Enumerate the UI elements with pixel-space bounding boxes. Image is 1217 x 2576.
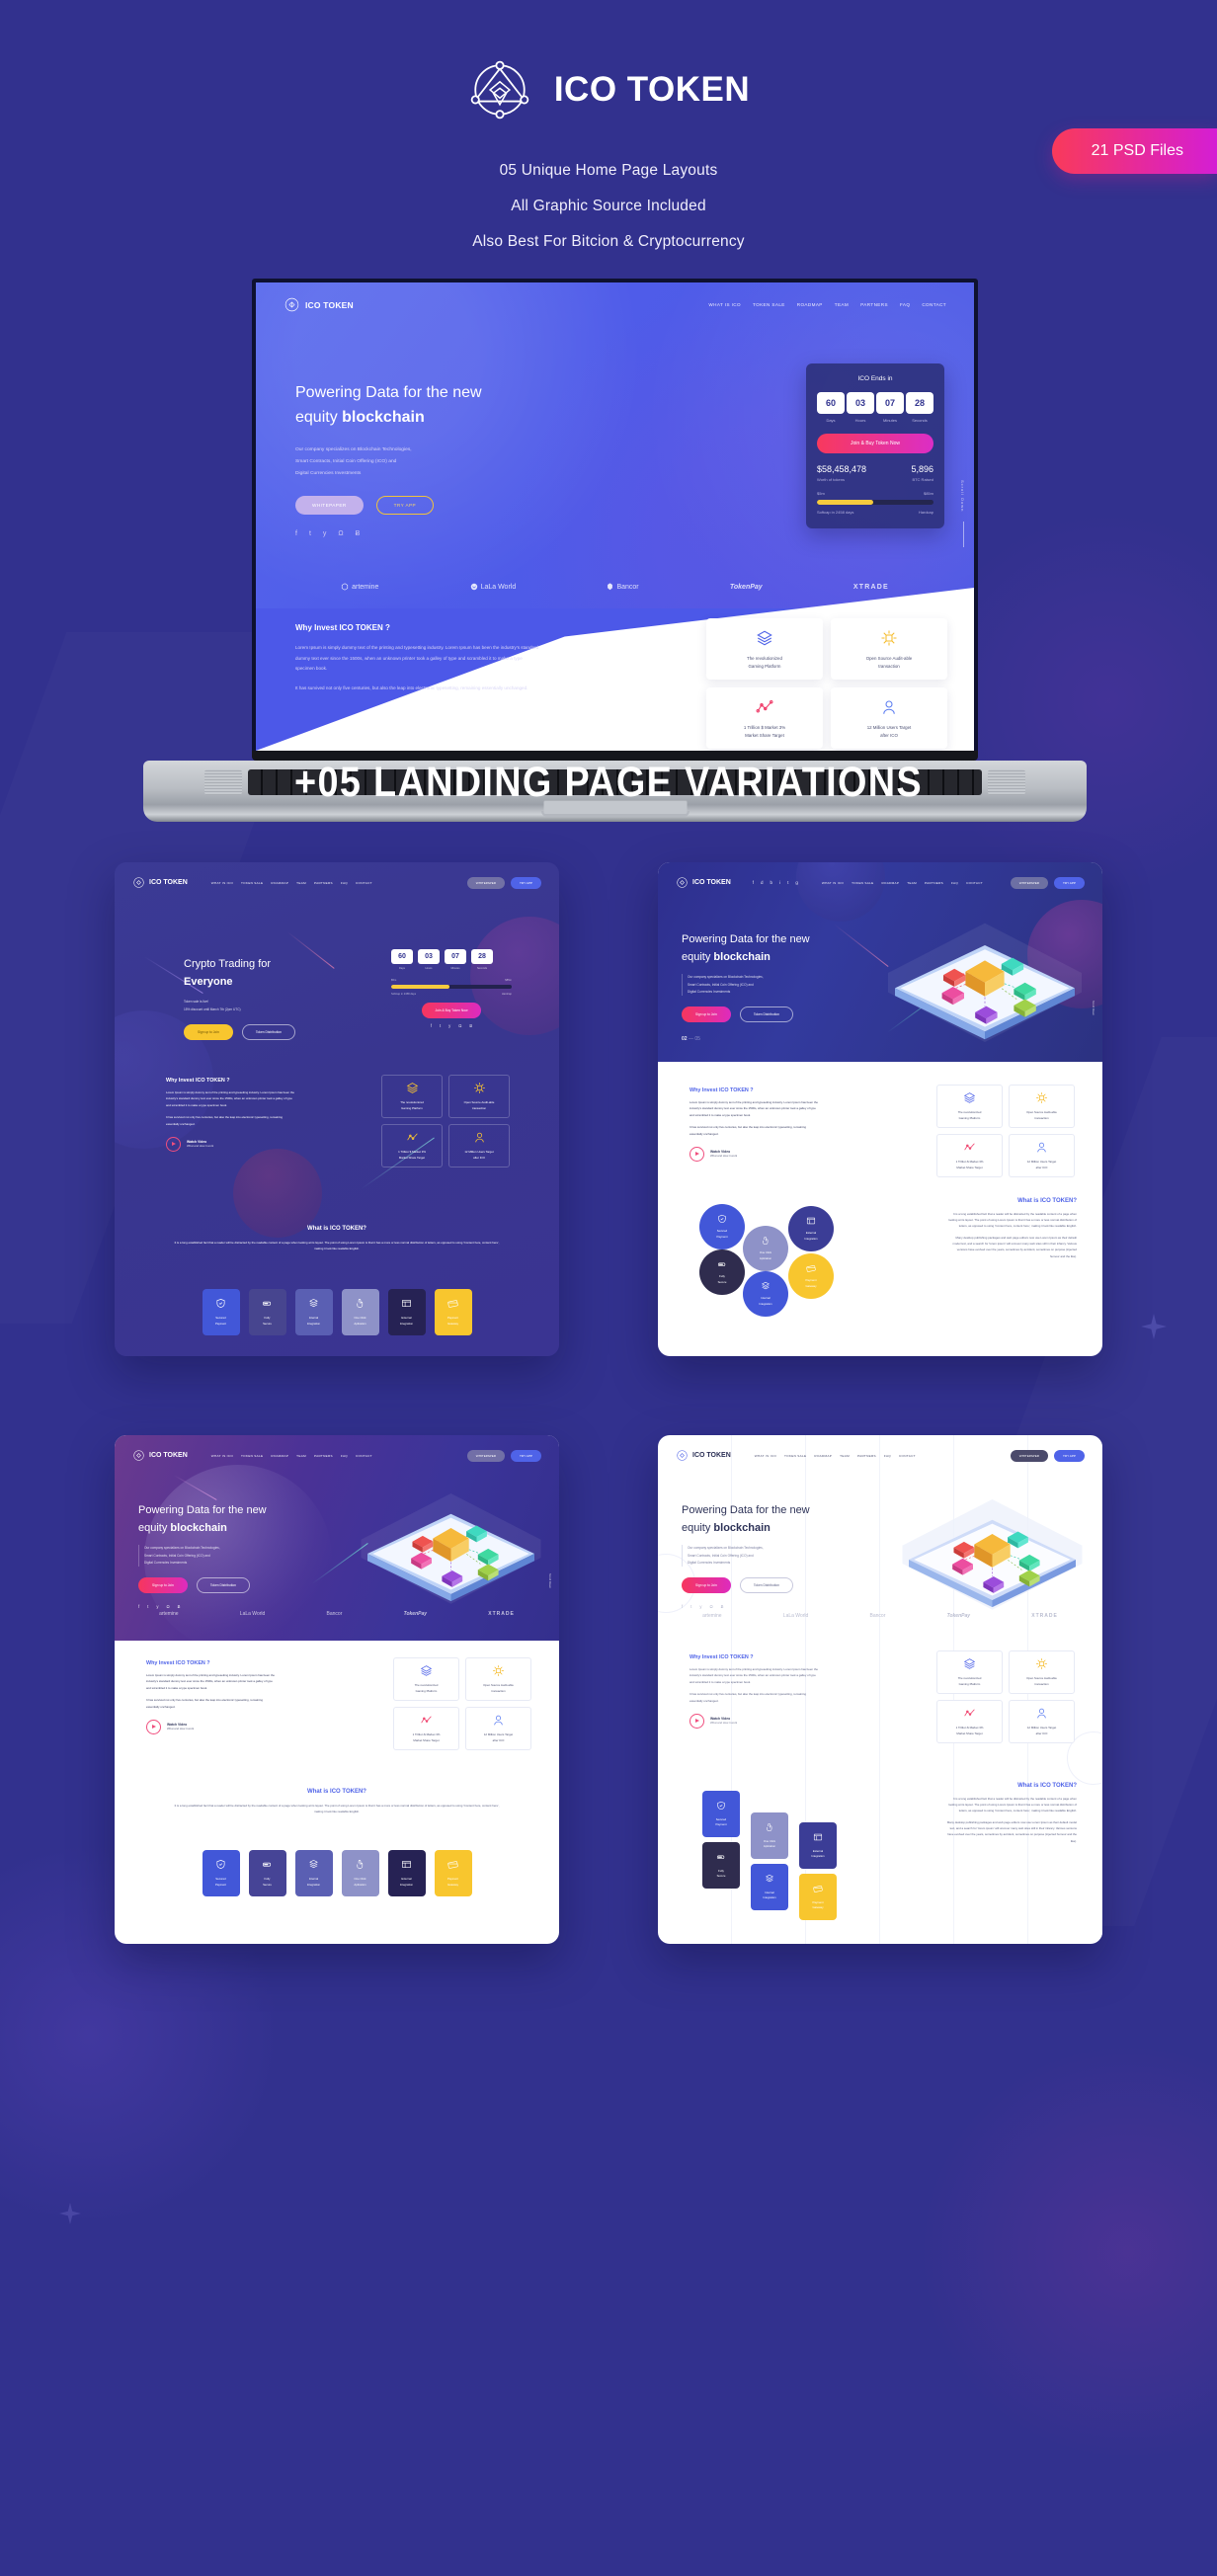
partner-lala-world: LaLa World: [470, 583, 517, 591]
layers-icon: [406, 1082, 419, 1095]
funding-progress-bar: [817, 500, 933, 505]
v1-tiles-row: SecuredPayment FullySecure InternalInteg…: [144, 1289, 529, 1335]
hero-sub-2: Smart Contracts, Initial Coin Offering (…: [295, 456, 547, 468]
partner-lala-world: LaLa World: [783, 1613, 808, 1619]
v3-title-pre: equity: [138, 1522, 170, 1534]
v2-nav-links: WHAT IS ICO TOKEN SALE ROADMAP TEAM PART…: [822, 881, 983, 885]
tile-internal-integration[interactable]: InternalIntegration: [751, 1864, 788, 1910]
try-app-button[interactable]: TRY APP: [376, 496, 434, 515]
mockup-hero-sub: Our company specializes on Blockchain Te…: [295, 444, 547, 480]
click-hand-icon: [761, 1236, 771, 1247]
mockup-navbar: ICO TOKEN WHAT IS ICO TOKEN SALE ROADMAP…: [284, 296, 946, 313]
v3-what-title: What is ICO TOKEN?: [174, 1789, 500, 1795]
variations-section-title: +05 LANDING PAGE VARIATIONS: [73, 759, 1144, 807]
try-app-button[interactable]: TRY APP: [1054, 877, 1085, 889]
v4-hero-buttons: Sign up to Join Token Distribution: [682, 1577, 828, 1593]
v2-feature-grid: The revolutionizedGaming Platform Open S…: [936, 1085, 1075, 1177]
sparkle-icon: [1141, 1314, 1167, 1339]
tile-payment-gateway[interactable]: PaymentGateway: [799, 1874, 837, 1920]
nav-roadmap[interactable]: ROADMAP: [271, 881, 288, 885]
nav-token-sale[interactable]: TOKEN SALE: [784, 1454, 806, 1458]
bitcoin-icon[interactable]: Ƀ: [356, 530, 361, 537]
v1-what-title: What is ICO TOKEN?: [174, 1226, 500, 1232]
server-stack-icon: [765, 1874, 774, 1885]
v4-title-light: Powering Data for the new: [682, 1504, 810, 1516]
v2-nav-buttons: WHITEPAPER TRY APP: [1011, 877, 1085, 889]
partner-artemine: artemine: [341, 583, 378, 591]
nav-team[interactable]: TEAM: [296, 881, 306, 885]
v1-progress-bar: [391, 985, 512, 989]
shield-check-icon: [717, 1214, 727, 1225]
v4-hero: Powering Data for the new equity blockch…: [682, 1502, 828, 1609]
tile-fully-secure[interactable]: FullySecure: [249, 1289, 286, 1335]
window-layout-icon: [401, 1298, 412, 1310]
partner-artemine: artemine: [702, 1613, 721, 1619]
play-icon: [166, 1137, 181, 1152]
bg-glow: [901, 2025, 1217, 2479]
v3-social: f t y Ω Ƀ: [138, 1604, 282, 1609]
v4-nav-buttons: WHITEPAPER TRY APP: [1011, 1450, 1085, 1462]
tile-internal-integration[interactable]: InternalIntegration: [295, 1850, 333, 1896]
tile-secured-payment[interactable]: SecuredPayment: [702, 1791, 740, 1837]
signup-button[interactable]: Sign up to Join: [682, 1006, 731, 1022]
worth-label: Worth of tokens: [817, 477, 866, 482]
why-invest-p1: Lorem Ipsum is simply dummy text of the …: [295, 643, 542, 675]
nav-team[interactable]: TEAM: [907, 881, 917, 885]
whitepaper-button[interactable]: WHITEPAPER: [295, 496, 364, 515]
feature-box: 12 Million Users Targetafter ICO: [465, 1707, 531, 1750]
isometric-blockchain-illustration: [881, 910, 1089, 1044]
v3-what-p1: It is a long established fact that a rea…: [174, 1803, 500, 1814]
whitepaper-button[interactable]: WHITEPAPER: [467, 1450, 505, 1462]
v1-sub-1: Token sale is live!: [184, 999, 332, 1006]
feature-box: 1 Trillion $ Market 3%Market Share Targe…: [936, 1134, 1003, 1177]
nav-roadmap[interactable]: ROADMAP: [271, 1454, 288, 1458]
card-swipe-icon: [447, 1298, 458, 1310]
v1-why-invest: Why Invest ICO TOKEN ? Lorem Ipsum is si…: [166, 1078, 296, 1152]
worth-value: $58,458,478: [817, 464, 866, 474]
nav-what-is-ico[interactable]: WHAT IS ICO: [822, 881, 844, 885]
v3-why-invest: Why Invest ICO TOKEN ? Lorem Ipsum is si…: [146, 1660, 277, 1734]
mockup-why-invest: Why Invest ICO TOKEN ? Lorem Ipsum is si…: [295, 623, 542, 702]
facebook-icon[interactable]: f: [295, 530, 297, 537]
tile-external-integration[interactable]: ExternalIntegration: [388, 1289, 426, 1335]
youtube-icon[interactable]: y: [323, 530, 327, 537]
nav-team[interactable]: TEAM: [835, 302, 849, 307]
facebook-icon[interactable]: f: [753, 880, 754, 885]
v2-circle-tiles: SecuredPayment One ClickAplication Exter…: [699, 1204, 838, 1313]
hero-title-line1: Powering Data for the new: [295, 384, 482, 401]
v2-why-title: Why Invest ICO TOKEN ?: [690, 1087, 820, 1093]
facebook-icon[interactable]: f: [682, 1604, 683, 1609]
partner-xtrade: XTRADE: [1031, 1613, 1058, 1619]
nav-contact[interactable]: CONTACT: [922, 302, 946, 307]
ico-token-logo-icon: [132, 1449, 145, 1462]
countdown-days: 60Days: [391, 949, 413, 970]
nav-token-sale[interactable]: TOKEN SALE: [241, 1454, 263, 1458]
v3-why-p1: Lorem Ipsum is simply dummy text of the …: [146, 1672, 277, 1691]
nav-partners[interactable]: PARTNERS: [857, 1454, 876, 1458]
tile-fully-secure[interactable]: FullySecure: [702, 1842, 740, 1889]
whitepaper-button[interactable]: WHITEPAPER: [1011, 1450, 1048, 1462]
tile-one-click-aplication[interactable]: One ClickAplication: [743, 1226, 788, 1271]
try-app-button[interactable]: TRY APP: [511, 877, 541, 889]
battery-icon: [717, 1259, 727, 1270]
feature-box: 12 Million Users Targetafter ICO: [1009, 1700, 1075, 1743]
nav-what-is-ico[interactable]: WHAT IS ICO: [755, 1454, 776, 1458]
v4-title-pre: equity: [682, 1522, 713, 1534]
v2-title-light: Powering Data for the new: [682, 933, 810, 945]
countdown-hours-value: 03: [847, 392, 874, 414]
card-swipe-icon: [447, 1859, 458, 1871]
feature-box: Open Source Audit-abletransaction: [465, 1657, 531, 1701]
v1-hero-sub: Token sale is live! 15% discount until M…: [184, 999, 332, 1013]
v3-hero: Powering Data for the new equity blockch…: [138, 1502, 282, 1609]
user-icon: [492, 1714, 505, 1728]
chart-line-icon: [963, 1707, 976, 1721]
btc-label: BTC Raised: [911, 477, 933, 482]
facebook-icon[interactable]: f: [431, 1023, 432, 1028]
v4-feature-grid: The revolutionizedGaming Platform Open S…: [936, 1650, 1075, 1743]
nav-faq[interactable]: FAQ: [341, 881, 348, 885]
v2-hero: Powering Data for the new equity blockch…: [682, 931, 825, 1042]
twitter-icon[interactable]: t: [309, 530, 311, 537]
watch-video-button[interactable]: Watch Video What and How it work: [166, 1137, 296, 1152]
v3-brand: ICO TOKEN: [149, 1452, 188, 1459]
instagram-icon[interactable]: i: [779, 880, 780, 885]
headphones-icon[interactable]: Ω: [338, 530, 343, 537]
hero-title-line2-pre: equity: [295, 409, 342, 426]
why-invest-p2: It has survived not only five centuries,…: [295, 684, 542, 694]
v2-why-invest: Why Invest ICO TOKEN ? Lorem Ipsum is si…: [690, 1087, 820, 1162]
nav-contact[interactable]: CONTACT: [899, 1454, 916, 1458]
layers-icon: [756, 628, 773, 648]
laptop-mockup: ICO TOKEN WHAT IS ICO TOKEN SALE ROADMAP…: [0, 279, 1217, 674]
countdown-seconds-value: 28: [906, 392, 933, 414]
v1-what-p1: It is a long established fact that a rea…: [174, 1240, 500, 1251]
play-icon: [690, 1714, 704, 1729]
nav-roadmap[interactable]: ROADMAP: [881, 881, 899, 885]
window-layout-icon: [806, 1216, 816, 1227]
v4-why-invest: Why Invest ICO TOKEN ? Lorem Ipsum is si…: [690, 1654, 820, 1729]
headphones-icon[interactable]: Ω: [166, 1604, 169, 1609]
sun-chip-icon: [473, 1082, 486, 1095]
v2-why-p2: It has survived not only five centuries,…: [690, 1124, 820, 1137]
v2-brand: ICO TOKEN: [692, 879, 731, 886]
sparkle-icon: [59, 2203, 81, 2224]
v4-navbar: ICO TOKEN WHAT IS ICO TOKEN SALE ROADMAP…: [676, 1449, 1085, 1462]
tile-secured-payment[interactable]: SecuredPayment: [203, 1850, 240, 1896]
watch-video-button[interactable]: Watch Video What and How it work: [146, 1720, 277, 1734]
bitcoin-icon[interactable]: Ƀ: [178, 1604, 181, 1609]
v4-partner-logos: artemine LaLa World Bancor TokenPay XTRA…: [672, 1613, 1089, 1619]
card-swipe-icon: [806, 1263, 816, 1274]
tagline-line-1: 05 Unique Home Page Layouts: [0, 162, 1217, 180]
tile-one-click-aplication[interactable]: One ClickAplication: [751, 1812, 788, 1859]
countdown-days-label: Days: [817, 418, 845, 423]
feature-box: The revolutionizedGaming Platform: [393, 1657, 459, 1701]
click-hand-icon: [355, 1298, 365, 1310]
facebook-icon[interactable]: f: [138, 1604, 139, 1609]
feature-box: 1 Trillion $ Market 3%Market Share Targe…: [936, 1700, 1003, 1743]
partner-bancor: Bancor: [607, 583, 638, 591]
tile-one-click-aplication[interactable]: One ClickAplication: [342, 1289, 379, 1335]
click-hand-icon: [355, 1859, 365, 1871]
token-distribution-button[interactable]: Token Distribution: [740, 1006, 793, 1022]
signup-button[interactable]: Sign up to Join: [184, 1024, 233, 1040]
worth-of-tokens: $58,458,478 Worth of tokens: [817, 464, 866, 482]
nav-contact[interactable]: CONTACT: [966, 881, 983, 885]
v3-nav-buttons: WHITEPAPER TRY APP: [467, 1450, 541, 1462]
v1-countdown-row: 60Days 03Hours 07Minutes 28Seconds: [391, 949, 512, 970]
sun-chip-icon: [1035, 1091, 1048, 1105]
v1-title-bold: Everyone: [184, 976, 233, 988]
tile-external-integration[interactable]: ExternalIntegration: [788, 1206, 834, 1251]
countdown-minutes: 07Minutes: [445, 949, 466, 970]
nav-faq[interactable]: FAQ: [951, 881, 958, 885]
tile-external-integration[interactable]: ExternalIntegration: [388, 1850, 426, 1896]
page-header: ICO TOKEN 21 PSD Files 05 Unique Home Pa…: [0, 0, 1217, 251]
v3-partner-logos: artemine LaLa World Bancor TokenPay XTRA…: [128, 1611, 545, 1617]
v3-hero-buttons: Sign up to Join Token Distribution: [138, 1577, 282, 1593]
isometric-blockchain-illustration: [896, 1487, 1089, 1612]
range-min: $5m: [817, 491, 825, 496]
nav-what-is-ico[interactable]: WHAT IS ICO: [708, 302, 741, 307]
countdown-row: 60 Days 03 Hours 07 Minutes: [817, 392, 933, 423]
tile-secured-payment[interactable]: SecuredPayment: [699, 1204, 745, 1249]
chart-line-icon: [963, 1141, 976, 1155]
v1-nav-links: WHAT IS ICO TOKEN SALE ROADMAP TEAM PART…: [211, 881, 372, 885]
nav-contact[interactable]: CONTACT: [356, 881, 372, 885]
nav-what-is-ico[interactable]: WHAT IS ICO: [211, 1454, 233, 1458]
token-distribution-button[interactable]: Token Distribution: [242, 1024, 295, 1040]
try-app-button[interactable]: TRY APP: [1054, 1450, 1085, 1462]
variation-card-3[interactable]: ICO TOKEN WHAT IS ICO TOKEN SALE ROADMAP…: [115, 1435, 559, 1944]
v4-social: f t y Ω Ƀ: [682, 1604, 828, 1609]
signup-button[interactable]: Sign up to Join: [138, 1577, 188, 1593]
countdown-hours-label: Hours: [847, 418, 874, 423]
countdown-seconds: 28 Seconds: [906, 392, 933, 423]
feature-card: The revolutionized Gaming Platform: [706, 618, 823, 680]
hero-title-line2-bold: blockchain: [342, 409, 425, 426]
v1-hero-buttons: Sign up to Join Token Distribution: [184, 1024, 332, 1040]
nav-token-sale[interactable]: TOKEN SALE: [852, 881, 873, 885]
tile-payment-gateway[interactable]: PaymentGateway: [788, 1253, 834, 1299]
dribbble-icon[interactable]: d: [761, 880, 764, 885]
v1-cap-captions: Softcap in 2458 daysHardcap: [391, 993, 512, 996]
variation-card-2[interactable]: ICO TOKEN fd bi tg WHAT IS ICO TOKEN SAL…: [658, 862, 1102, 1356]
twitter-icon[interactable]: t: [690, 1604, 691, 1609]
nav-token-sale[interactable]: TOKEN SALE: [753, 302, 785, 307]
partner-tokenpay: TokenPay: [947, 1613, 970, 1619]
chart-line-icon: [406, 1131, 419, 1145]
v4-hero-title: Powering Data for the new equity blockch…: [682, 1502, 828, 1537]
bitcoin-icon[interactable]: Ƀ: [469, 1023, 472, 1028]
token-distribution-button[interactable]: Token Distribution: [197, 1577, 250, 1593]
user-icon: [1035, 1141, 1048, 1155]
v4-what-p2: Many desktop publishing packages and web…: [946, 1819, 1077, 1843]
nav-faq[interactable]: FAQ: [341, 1454, 348, 1458]
nav-partners[interactable]: PARTNERS: [860, 302, 888, 307]
v4-tiles-stagger: SecuredPayment One ClickAplication Exter…: [702, 1791, 851, 1909]
watch-video-button[interactable]: Watch Video What and How it work: [690, 1147, 820, 1162]
isometric-blockchain-illustration: [355, 1481, 547, 1606]
whitepaper-button[interactable]: WHITEPAPER: [467, 877, 505, 889]
nav-token-sale[interactable]: TOKEN SALE: [241, 881, 263, 885]
youtube-icon[interactable]: y: [448, 1023, 450, 1028]
tile-fully-secure[interactable]: FullySecure: [699, 1249, 745, 1295]
hero-sub-1: Our company specializes on Blockchain Te…: [295, 444, 547, 456]
feature-box: 12 Million Users Targetafter ICO: [1009, 1134, 1075, 1177]
card-swipe-icon: [813, 1884, 823, 1894]
layers-icon: [963, 1091, 976, 1105]
join-buy-token-button[interactable]: Join & Buy Token Now: [817, 434, 933, 453]
tile-one-click-aplication[interactable]: One ClickAplication: [342, 1850, 379, 1896]
nav-contact[interactable]: CONTACT: [356, 1454, 372, 1458]
v2-hero-sub: Our company specializes on Blockchain Te…: [682, 974, 825, 996]
tile-internal-integration[interactable]: InternalIntegration: [743, 1271, 788, 1317]
user-icon: [473, 1131, 486, 1145]
v2-slide-counter: 02 — 05: [682, 1036, 825, 1042]
ico-countdown-card: ICO Ends in 60 Days 03 Hours: [806, 363, 944, 528]
play-icon: [146, 1720, 161, 1734]
hardcap-label: Hardcap: [919, 510, 933, 515]
join-buy-token-button[interactable]: Join & Buy Token Now: [422, 1003, 482, 1018]
v4-why-title: Why Invest ICO TOKEN ?: [690, 1654, 820, 1660]
nav-partners[interactable]: PARTNERS: [925, 881, 943, 885]
token-distribution-button[interactable]: Token Distribution: [740, 1577, 793, 1593]
v4-hero-sub: Our company specializes on Blockchain Te…: [682, 1545, 828, 1567]
feature-box: The revolutionizedGaming Platform: [936, 1650, 1003, 1694]
signup-button[interactable]: Sign up to Join: [682, 1577, 731, 1593]
countdown-seconds: 28Seconds: [471, 949, 493, 970]
variation-card-1[interactable]: ICO TOKEN WHAT IS ICO TOKEN SALE ROADMAP…: [115, 862, 559, 1356]
nav-faq[interactable]: FAQ: [900, 302, 910, 307]
v1-hero: Crypto Trading for Everyone Token sale i…: [184, 956, 332, 1040]
layers-icon: [963, 1657, 976, 1671]
v1-feature-grid: The revolutionizedGaming Platform Open S…: [381, 1075, 510, 1167]
feature-box: 1 Trillion $ Market 3%Market Share Targe…: [381, 1124, 443, 1167]
google-icon[interactable]: g: [795, 880, 798, 885]
nav-faq[interactable]: FAQ: [884, 1454, 891, 1458]
v4-what-p1: It is a long established fact that a rea…: [946, 1796, 1077, 1813]
v4-why-p1: Lorem Ipsum is simply dummy text of the …: [690, 1666, 820, 1685]
click-hand-icon: [765, 1822, 774, 1833]
feature-card: 1 Trillion $ Market 3% Market Share Targ…: [706, 687, 823, 749]
nav-roadmap[interactable]: ROADMAP: [797, 302, 823, 307]
partner-bancor: Bancor: [870, 1613, 886, 1619]
headphones-icon[interactable]: Ω: [709, 1604, 712, 1609]
shield-check-icon: [215, 1298, 226, 1310]
v1-why-p1: Lorem Ipsum is simply dummy text of the …: [166, 1089, 296, 1108]
mockup-nav-links: WHAT IS ICO TOKEN SALE ROADMAP TEAM PART…: [708, 302, 946, 307]
v3-hero-title: Powering Data for the new equity blockch…: [138, 1502, 282, 1537]
layers-icon: [420, 1664, 433, 1678]
promo-page: ICO TOKEN 21 PSD Files 05 Unique Home Pa…: [0, 0, 1217, 2576]
tile-secured-payment[interactable]: SecuredPayment: [203, 1289, 240, 1335]
behance-icon[interactable]: b: [771, 880, 773, 885]
twitter-icon[interactable]: t: [440, 1023, 441, 1028]
mockup-brand: ICO TOKEN: [305, 300, 354, 310]
nav-partners[interactable]: PARTNERS: [314, 1454, 333, 1458]
shield-check-icon: [716, 1801, 726, 1811]
bitcoin-icon[interactable]: Ƀ: [721, 1604, 724, 1609]
tile-external-integration[interactable]: ExternalIntegration: [799, 1822, 837, 1869]
mockup-feature-cards: The revolutionized Gaming Platform Open …: [706, 618, 948, 749]
watch-video-button[interactable]: Watch Video What and How it work: [690, 1714, 820, 1729]
watch-video-sub: What and How it work: [187, 1144, 213, 1148]
v4-brand: ICO TOKEN: [692, 1452, 731, 1459]
feature-box: Open Source Audit-abletransaction: [1009, 1085, 1075, 1128]
countdown-days-value: 60: [817, 392, 845, 414]
partner-xtrade: XTRADE: [488, 1611, 515, 1617]
tile-internal-integration[interactable]: InternalIntegration: [295, 1289, 333, 1335]
window-layout-icon: [813, 1832, 823, 1843]
variations-grid: ICO TOKEN WHAT IS ICO TOKEN SALE ROADMAP…: [115, 862, 1102, 1944]
v1-cap-range: $5m$85m: [391, 979, 512, 982]
v4-title-bold: blockchain: [713, 1522, 770, 1534]
tile-fully-secure[interactable]: FullySecure: [249, 1850, 286, 1896]
v2-what-title: What is ICO TOKEN?: [948, 1198, 1077, 1204]
variation-card-4[interactable]: ICO TOKEN WHAT IS ICO TOKEN SALE ROADMAP…: [658, 1435, 1102, 1944]
nav-what-is-ico[interactable]: WHAT IS ICO: [211, 881, 233, 885]
feature-card-text: Open Source Audit-able transaction: [866, 655, 913, 671]
v4-what-title: What is ICO TOKEN?: [946, 1783, 1077, 1789]
v1-navbar: ICO TOKEN WHAT IS ICO TOKEN SALE ROADMAP…: [132, 876, 541, 889]
sun-chip-icon: [880, 628, 898, 648]
twitter-icon[interactable]: t: [787, 880, 788, 885]
countdown-minutes-label: Minutes: [876, 418, 904, 423]
ico-ends-in-title: ICO Ends in: [817, 375, 933, 382]
feature-box: The revolutionizedGaming Platform: [936, 1085, 1003, 1128]
cap-range: $5m $85m: [817, 491, 933, 496]
feature-box: 1 Trillion $ Market 3%Market Share Targe…: [393, 1707, 459, 1750]
v3-title-bold: blockchain: [170, 1522, 226, 1534]
nav-partners[interactable]: PARTNERS: [314, 881, 333, 885]
countdown-minutes-value: 07: [876, 392, 904, 414]
v2-what-p1: It is a long established fact that a rea…: [948, 1211, 1077, 1229]
nav-team[interactable]: TEAM: [840, 1454, 850, 1458]
brand-name: ICO TOKEN: [554, 70, 750, 110]
v1-nav-buttons: WHITEPAPER TRY APP: [467, 877, 541, 889]
try-app-button[interactable]: TRY APP: [511, 1450, 541, 1462]
v3-why-p2: It has survived not only five centuries,…: [146, 1697, 277, 1710]
feature-card: 12 Million Users Target after ICO: [831, 687, 947, 749]
twitter-icon[interactable]: t: [147, 1604, 148, 1609]
partner-artemine: artemine: [159, 1611, 178, 1617]
nav-team[interactable]: TEAM: [296, 1454, 306, 1458]
v4-why-p2: It has survived not only five centuries,…: [690, 1691, 820, 1704]
tile-payment-gateway[interactable]: PaymentGateway: [435, 1850, 472, 1896]
v2-scroll-down: Scroll Down: [1092, 1001, 1095, 1015]
youtube-icon[interactable]: y: [699, 1604, 701, 1609]
tile-payment-gateway[interactable]: PaymentGateway: [435, 1289, 472, 1335]
ico-token-logo-icon: [467, 57, 532, 122]
youtube-icon[interactable]: y: [156, 1604, 158, 1609]
partner-logos-row: artemine LaLa World Bancor TokenPay: [256, 567, 974, 606]
whitepaper-button[interactable]: WHITEPAPER: [1011, 877, 1048, 889]
partner-tokenpay: TokenPay: [730, 584, 763, 591]
v3-what-is: What is ICO TOKEN? It is a long establis…: [174, 1789, 500, 1814]
v4-nav-links: WHAT IS ICO TOKEN SALE ROADMAP TEAM PART…: [755, 1454, 916, 1458]
cap-captions: Softcap in 2458 days Hardcap: [817, 510, 933, 515]
v1-why-p2: It has survived not only five centuries,…: [166, 1114, 296, 1127]
nav-roadmap[interactable]: ROADMAP: [814, 1454, 832, 1458]
countdown-days: 60 Days: [817, 392, 845, 423]
btc-raised: 5,896 BTC Raised: [911, 464, 933, 482]
partner-bancor: Bancor: [327, 1611, 343, 1617]
headphones-icon[interactable]: Ω: [458, 1023, 461, 1028]
